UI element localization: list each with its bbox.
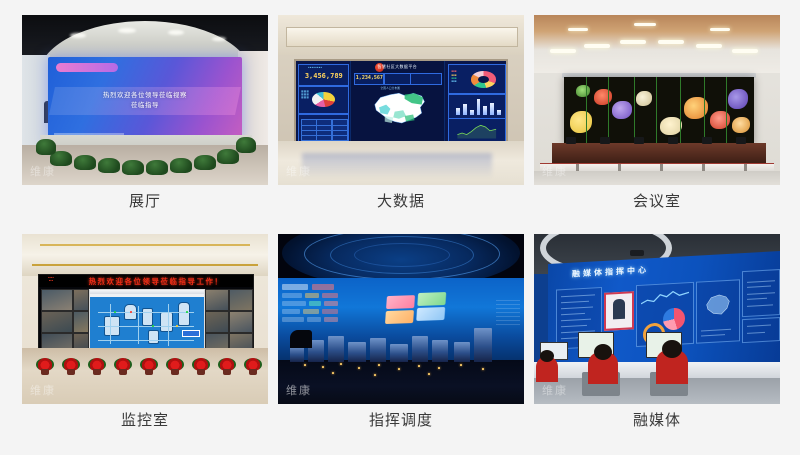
staff-hair xyxy=(662,340,682,358)
monitor-video-wall: ●●●●●●● 热烈欢迎各位领导莅临指导工作！ xyxy=(38,274,254,356)
foliage xyxy=(576,85,590,97)
line-chart-panel xyxy=(448,118,506,142)
planter-bush xyxy=(194,155,216,170)
pie-chart xyxy=(312,92,335,107)
counter-value: 1,234,567 xyxy=(355,75,383,81)
ceiling-spotlight xyxy=(168,30,184,35)
big-data-photo[interactable]: ●●●●●●●● 3,456,789 ▦▦▦ ▦▦▦ ▦▦▦ xyxy=(278,15,524,185)
gallery-cell-media-center[interactable]: 融媒体指挥中心 xyxy=(534,234,780,436)
led-banner: ●●●●●●● 热烈欢迎各位领导莅临指导工作！ xyxy=(39,275,253,287)
pie-panel: ▦▦▦ ▦▦▦ ▦▦▦ xyxy=(298,86,349,113)
flower-white xyxy=(660,117,682,135)
model-building xyxy=(328,336,344,362)
conference-desk xyxy=(552,143,766,165)
flower-purple xyxy=(612,101,632,119)
caption-monitoring-room: 监控室 xyxy=(22,404,268,436)
cctv-feed xyxy=(41,289,73,311)
gallery-row-1: 热烈欢迎各位领导莅临视察 莅临指导 维康 展厅 xyxy=(22,15,778,217)
plant-pot xyxy=(171,369,179,375)
flower-yellow xyxy=(570,111,592,133)
planter-bush xyxy=(146,160,168,175)
windows-style-logo xyxy=(385,294,449,326)
cctv-feed xyxy=(41,311,73,333)
model-building xyxy=(432,340,448,362)
media-center-photo[interactable]: 融媒体指挥中心 xyxy=(534,234,780,404)
kpi-value: 3,456,789 xyxy=(299,72,348,80)
plant-pot xyxy=(119,369,127,375)
model-building xyxy=(290,346,304,362)
staff-hair xyxy=(540,350,554,362)
video-wall-right-column: ■■■ ■■■ ■■■ ■■■ xyxy=(445,61,506,143)
ceiling-lamp xyxy=(620,40,646,44)
flower-orange xyxy=(732,117,750,133)
donut-panel: ■■■ ■■■ ■■■ ■■■ xyxy=(448,64,506,94)
plant-pot xyxy=(223,369,231,375)
platform-title: 智慧社区大数据平台 xyxy=(358,64,437,70)
ceiling-lamp xyxy=(710,28,730,31)
cctv-feed xyxy=(73,311,89,333)
watermark: 维康 xyxy=(30,163,56,179)
floor-reflection xyxy=(302,153,492,179)
watermark: 维康 xyxy=(286,163,312,179)
ceiling-lamp xyxy=(658,40,684,44)
screen-right-text-block xyxy=(496,300,520,326)
staff-hair xyxy=(594,344,612,360)
video-wall: ●●●●●●●● 3,456,789 ▦▦▦ ▦▦▦ ▦▦▦ xyxy=(294,59,508,145)
planter-bush xyxy=(74,155,96,170)
gallery-cell-big-data[interactable]: ●●●●●●●● 3,456,789 ▦▦▦ ▦▦▦ ▦▦▦ xyxy=(278,15,524,217)
model-building xyxy=(348,342,366,362)
planter-bush xyxy=(98,158,120,173)
scada-toolbar xyxy=(90,294,204,297)
model-building xyxy=(390,344,408,362)
ceiling-lamp xyxy=(568,28,588,31)
gallery-cell-conference-room[interactable]: 维康 会议室 xyxy=(534,15,780,217)
screen-left-dashboard xyxy=(280,282,342,330)
ceiling-lamp xyxy=(634,23,656,26)
watermark: 维康 xyxy=(30,382,56,398)
banner-side-text: ●●●●●●● xyxy=(41,276,61,282)
flower-cream xyxy=(636,91,652,106)
command-dispatch-photo[interactable]: 维康 xyxy=(278,234,524,404)
scada-process-diagram xyxy=(89,289,205,355)
portrait-frame xyxy=(604,291,634,331)
cctv-feed xyxy=(229,289,253,311)
monitoring-room-photo[interactable]: ●●●●●●● 热烈欢迎各位领导莅临指导工作！ xyxy=(22,234,268,404)
cctv-feed xyxy=(205,289,229,311)
planter-bush xyxy=(170,158,192,173)
screen-welcome-line1: 热烈欢迎各位领导莅临视察 xyxy=(48,90,242,99)
dome-ring xyxy=(354,243,450,267)
plant-pot xyxy=(145,369,153,375)
kpi-panel: ●●●●●●●● 3,456,789 xyxy=(298,64,349,86)
ceiling-spotlight xyxy=(118,28,136,33)
ceiling-lamp xyxy=(584,44,610,48)
ceiling-trim xyxy=(286,27,518,47)
china-map-chart xyxy=(362,82,433,133)
planter-bush xyxy=(217,149,239,164)
watermark: 维康 xyxy=(286,382,312,398)
room-floor xyxy=(534,171,780,185)
bar-chart-panel xyxy=(448,94,506,119)
caption-big-data: 大数据 xyxy=(278,185,524,217)
hall-led-screen: 热烈欢迎各位领导莅临视察 莅临指导 xyxy=(48,57,242,141)
data-table-panel xyxy=(298,114,349,142)
ceiling-spotlight xyxy=(70,33,86,38)
led-flower-display xyxy=(564,77,754,145)
wall-headline-title: 融媒体指挥中心 xyxy=(572,264,649,279)
ceiling-spotlight xyxy=(212,37,226,41)
ceiling-lamp xyxy=(696,44,722,48)
plant-pot xyxy=(249,369,257,375)
watermark: 维康 xyxy=(542,382,568,398)
donut-chart xyxy=(471,71,496,87)
screen-logo-badge xyxy=(56,63,118,72)
model-building xyxy=(474,328,492,362)
cctv-feed xyxy=(229,311,253,333)
video-wall-left-column: ●●●●●●●● 3,456,789 ▦▦▦ ▦▦▦ ▦▦▦ xyxy=(296,61,351,143)
caption-conference-room: 会议室 xyxy=(534,185,780,217)
video-wall-center-column: 智慧社区大数据平台 1,234,567 全国人口分布图 xyxy=(351,61,446,143)
ceiling-gold-trim xyxy=(40,244,250,246)
plant-pot xyxy=(41,369,49,375)
plant-pot xyxy=(67,369,75,375)
plant-pot xyxy=(197,369,205,375)
caption-command-dispatch: 指挥调度 xyxy=(278,404,524,436)
gallery-cell-monitoring-room[interactable]: ●●●●●●● 热烈欢迎各位领导莅临指导工作！ xyxy=(22,234,268,436)
conference-room-photo[interactable]: 维康 xyxy=(534,15,780,185)
wall-panel-stats xyxy=(742,317,780,343)
wall-panel-map xyxy=(696,279,740,343)
cctv-feed xyxy=(205,311,229,333)
ceiling-projector xyxy=(630,250,644,256)
planter-bush xyxy=(122,160,144,175)
gallery-cell-command-dispatch[interactable]: 维康 指挥调度 xyxy=(278,234,524,436)
banner-welcome-text: 热烈欢迎各位领导莅临指导工作！ xyxy=(61,276,251,287)
caption-exhibition-hall: 展厅 xyxy=(22,185,268,217)
model-building xyxy=(412,336,428,362)
wall-panel-text xyxy=(742,269,780,317)
image-gallery: 热烈欢迎各位领导莅临视察 莅临指导 维康 展厅 xyxy=(0,0,800,455)
flower-violet xyxy=(728,89,748,109)
room-ceiling xyxy=(22,234,268,276)
model-city-ground xyxy=(278,360,524,404)
model-building xyxy=(370,338,386,362)
plant-pot xyxy=(93,369,101,375)
gallery-row-2: ●●●●●●● 热烈欢迎各位领导莅临指导工作！ xyxy=(22,234,778,436)
watermark: 维康 xyxy=(542,163,568,179)
ceiling-gold-trim xyxy=(32,264,258,266)
room-floor xyxy=(22,348,268,404)
ceiling-lamp xyxy=(732,49,758,53)
ceiling-lamp xyxy=(550,49,576,53)
caption-media-center: 融媒体 xyxy=(534,404,780,436)
pie-chart xyxy=(663,307,685,330)
room-ceiling xyxy=(534,15,780,73)
visitor-silhouette xyxy=(290,330,312,348)
gallery-cell-exhibition-hall[interactable]: 热烈欢迎各位领导莅临视察 莅临指导 维康 展厅 xyxy=(22,15,268,217)
screen-welcome-line2: 莅临指导 xyxy=(48,100,242,109)
exhibition-hall-photo[interactable]: 热烈欢迎各位领导莅临视察 莅临指导 维康 xyxy=(22,15,268,185)
planter-bush xyxy=(36,139,56,155)
model-building xyxy=(454,342,470,362)
planter-bush xyxy=(236,137,256,153)
cctv-feed xyxy=(73,289,89,311)
